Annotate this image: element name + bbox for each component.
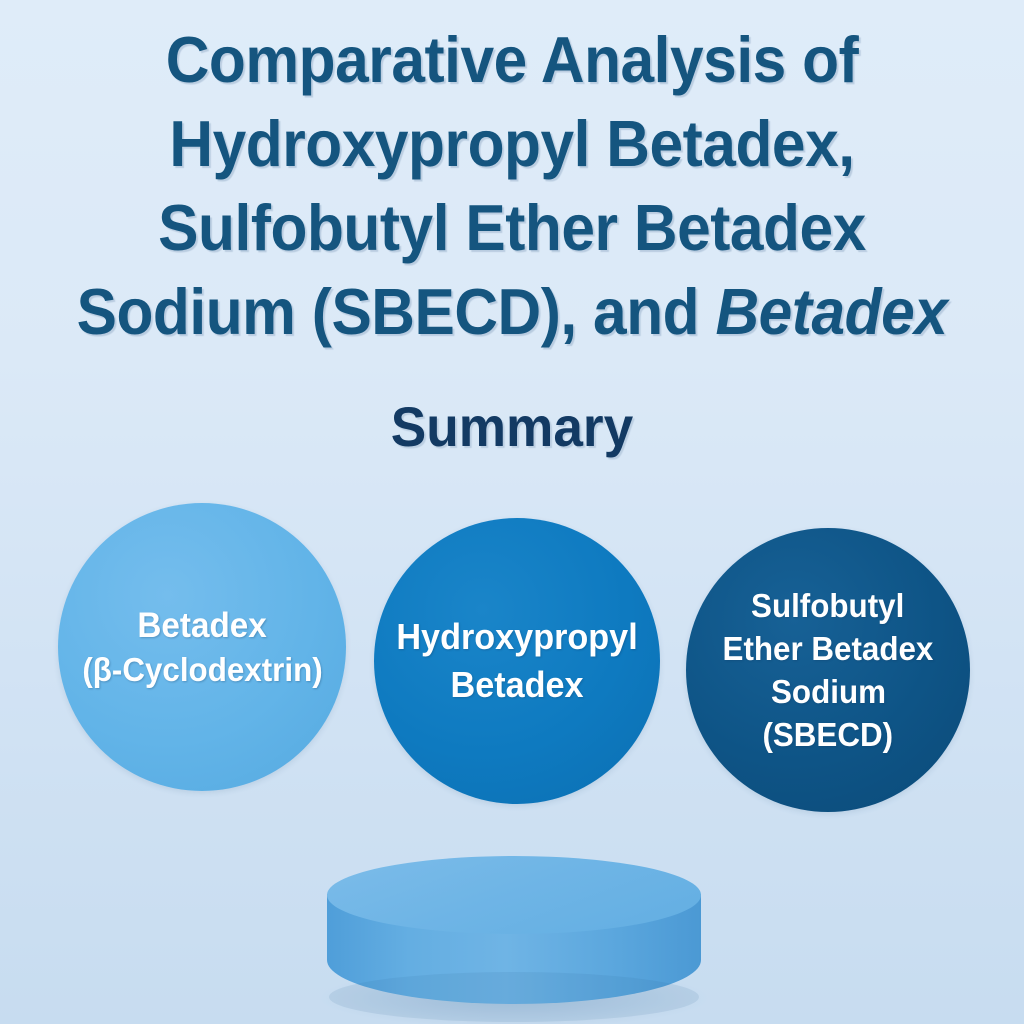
title-line-4-italic: Betadex bbox=[715, 275, 947, 348]
circle-hydroxypropyl-betadex: Hydroxypropyl Betadex bbox=[374, 518, 660, 804]
podium-rim bbox=[329, 972, 699, 1022]
circle-sbecd-line-3: Sodium bbox=[771, 670, 886, 713]
circle-sbecd-line-2: Ether Betadex bbox=[723, 627, 934, 670]
title-line-2: Hydroxypropyl Betadex, bbox=[36, 102, 988, 186]
circle-betadex-line-2: (β-Cyclodextrin) bbox=[82, 648, 322, 692]
circle-hydroxypropyl-line-2: Betadex bbox=[450, 661, 583, 709]
circle-betadex: Betadex (β-Cyclodextrin) bbox=[58, 503, 346, 791]
title-line-3: Sulfobutyl Ether Betadex bbox=[36, 186, 988, 270]
title-line-4-roman: Sodium (SBECD), and bbox=[77, 275, 716, 348]
page-title: Comparative Analysis of Hydroxypropyl Be… bbox=[0, 18, 1024, 354]
title-line-1: Comparative Analysis of bbox=[36, 18, 988, 102]
section-heading-summary: Summary bbox=[26, 392, 999, 462]
circle-hydroxypropyl-line-1: Hydroxypropyl bbox=[396, 613, 637, 661]
title-line-4: Sodium (SBECD), and Betadex bbox=[36, 270, 988, 354]
cylinder-podium bbox=[327, 856, 701, 1024]
circle-betadex-line-1: Betadex bbox=[137, 603, 266, 648]
podium-top-surface bbox=[327, 856, 701, 934]
circle-sbecd-line-1: Sulfobutyl bbox=[751, 584, 904, 627]
poster-canvas: Comparative Analysis of Hydroxypropyl Be… bbox=[0, 0, 1024, 1024]
circle-sbecd: Sulfobutyl Ether Betadex Sodium (SBECD) bbox=[686, 528, 970, 812]
circle-sbecd-line-4: (SBECD) bbox=[763, 713, 894, 756]
